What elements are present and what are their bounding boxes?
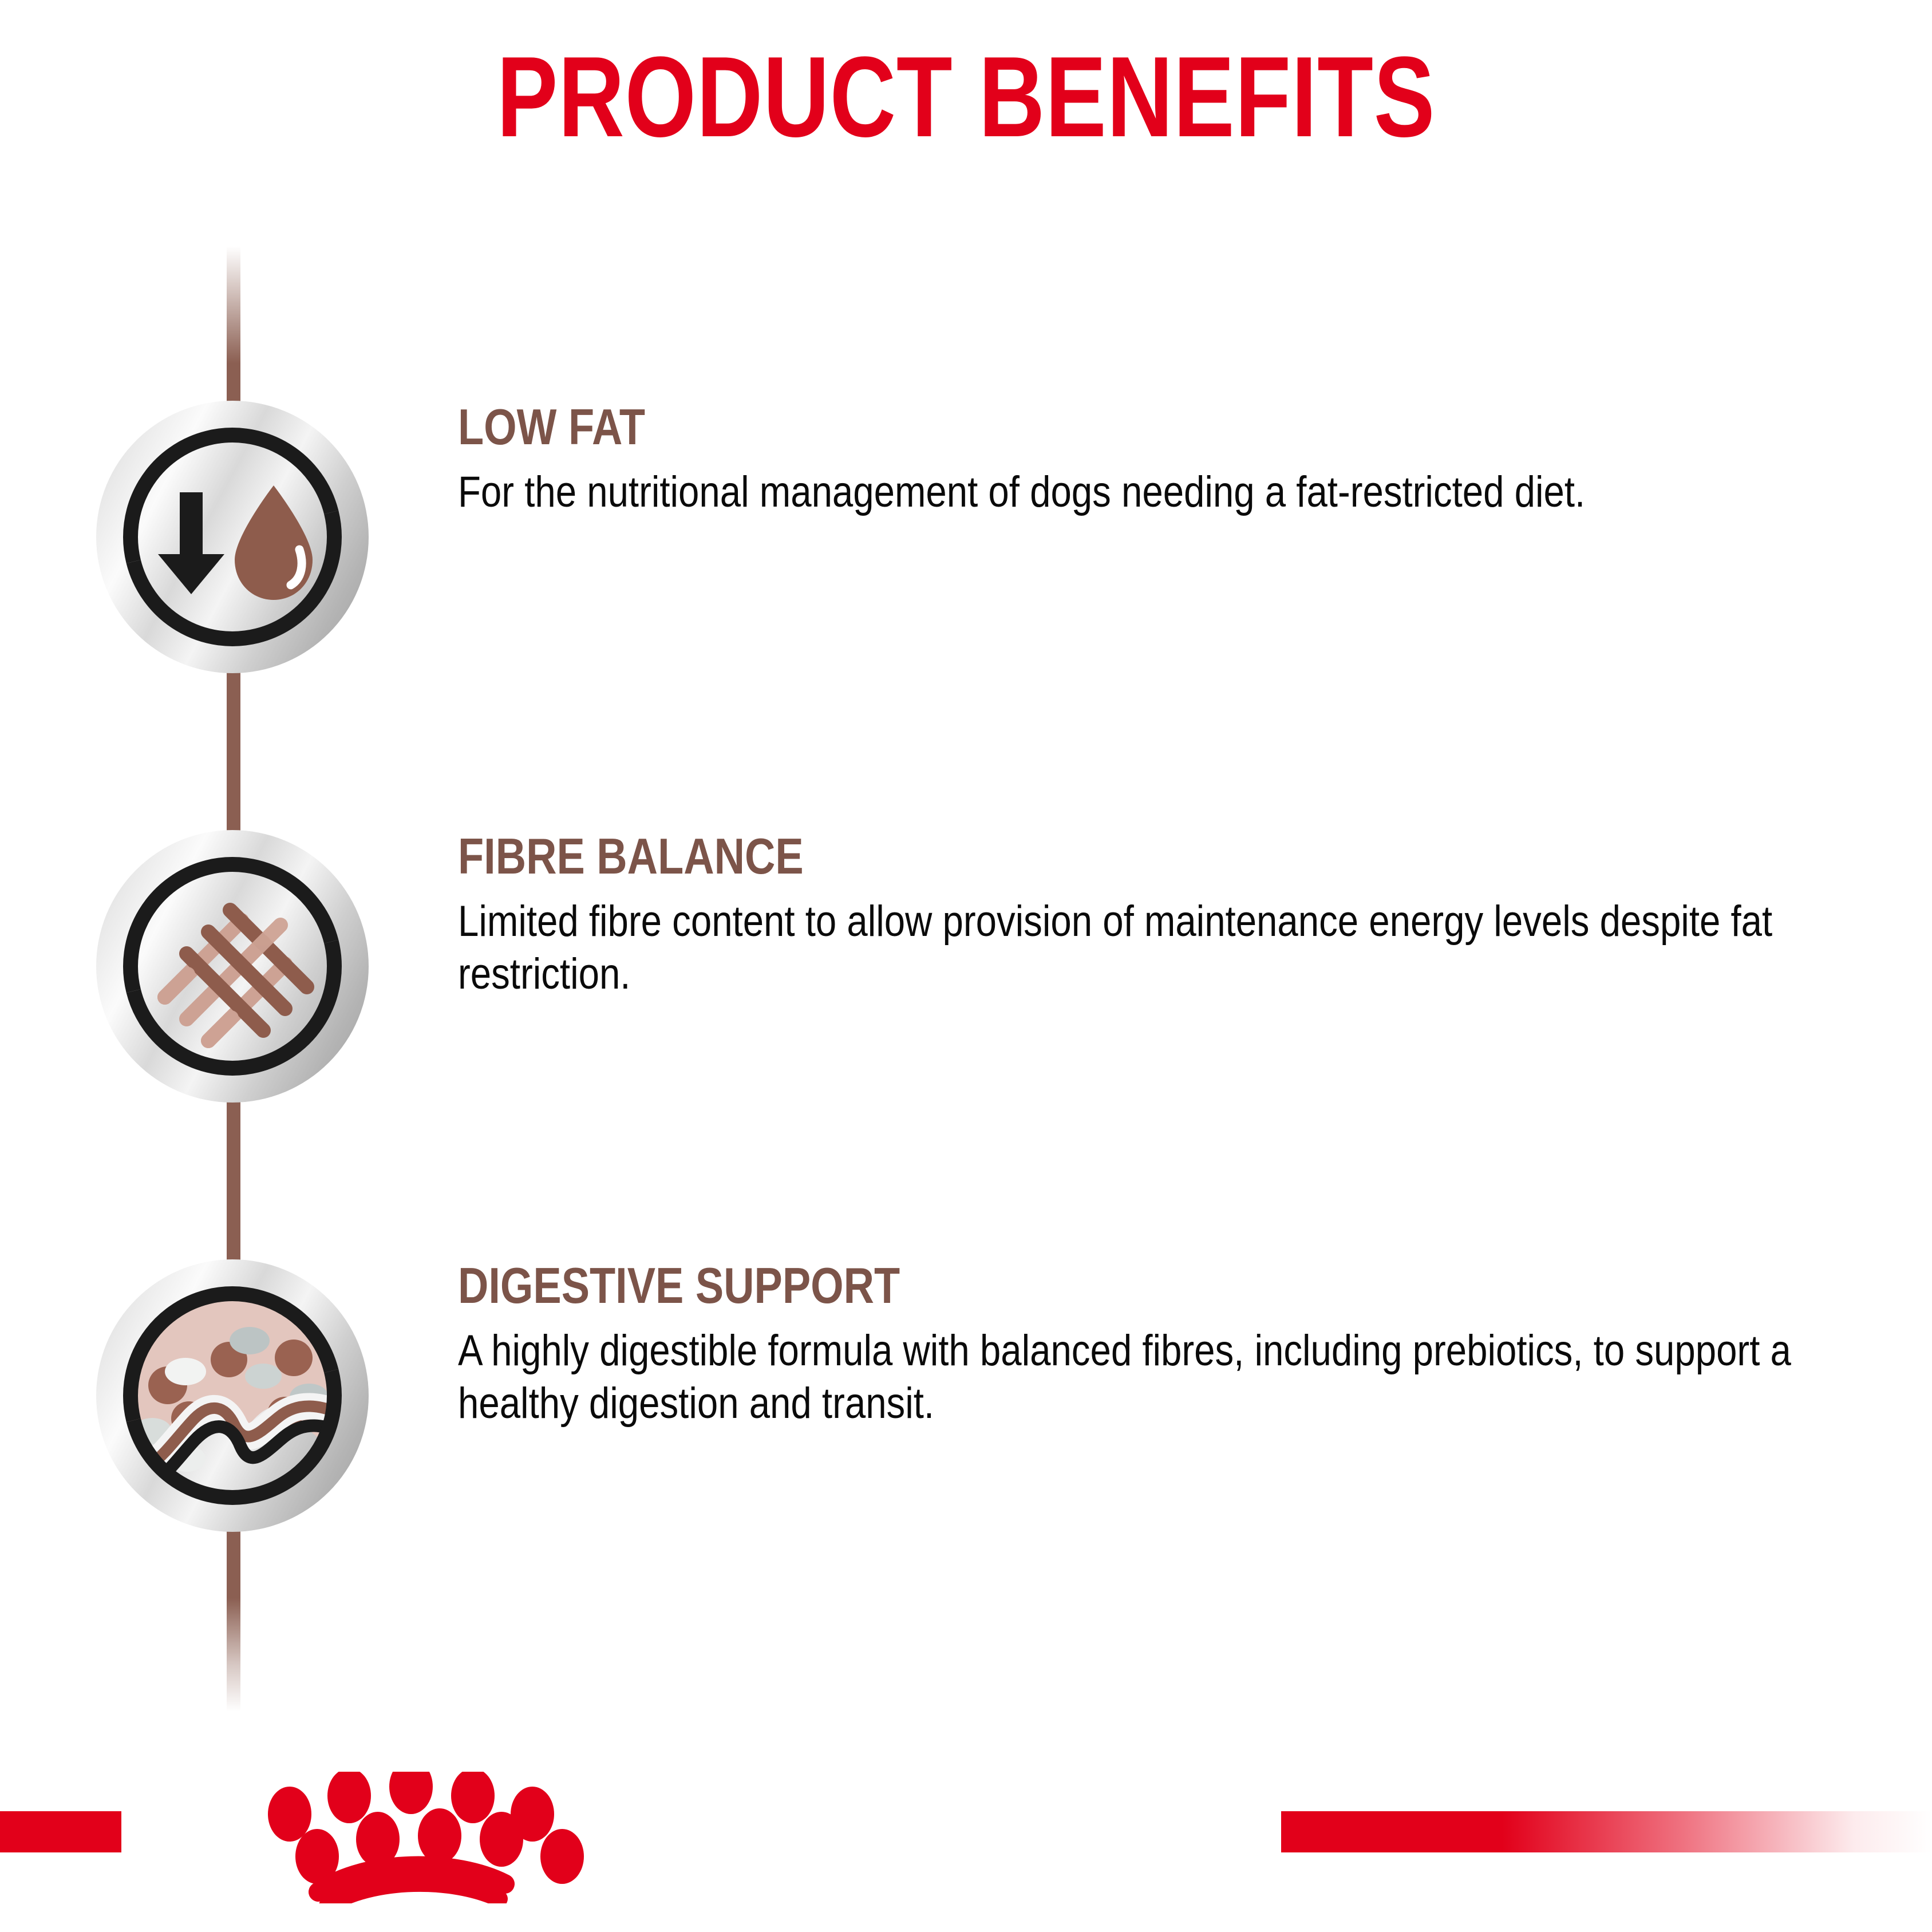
benefit-item-digestive-support: DIGESTIVE SUPPORT A highly digestible fo… (0, 1259, 1932, 1534)
benefit-item-fibre-balance: FIBRE BALANCE Limited fibre content to a… (0, 830, 1932, 1105)
timeline-connector-segment (227, 1093, 240, 1288)
benefit-item-low-fat: LOW FAT For the nutritional management o… (0, 401, 1932, 675)
low-fat-icon-glyph (96, 401, 369, 673)
timeline-connector-segment (227, 664, 240, 859)
benefit-text-block: DIGESTIVE SUPPORT A highly digestible fo… (458, 1259, 1843, 1430)
benefit-heading: LOW FAT (458, 401, 1622, 453)
fibre-balance-icon (96, 830, 369, 1103)
benefit-body: A highly digestible formula with balance… (458, 1325, 1827, 1430)
fibre-balance-icon-glyph (96, 830, 369, 1103)
royal-canin-crown-logo (120, 1772, 1282, 1903)
footer-bar-left (0, 1811, 121, 1852)
benefit-body: Limited fibre content to allow provision… (458, 895, 1827, 1001)
low-fat-icon (96, 401, 369, 673)
footer-bar-right (1281, 1811, 1932, 1852)
benefit-heading: DIGESTIVE SUPPORT (458, 1259, 1622, 1312)
benefit-text-block: FIBRE BALANCE Limited fibre content to a… (458, 830, 1843, 1001)
benefit-text-block: LOW FAT For the nutritional management o… (458, 401, 1843, 519)
page-title: PRODUCT BENEFITS (193, 40, 1739, 155)
digestive-support-icon-glyph (96, 1259, 369, 1532)
benefit-heading: FIBRE BALANCE (458, 830, 1622, 883)
digestive-support-icon (96, 1259, 369, 1532)
benefit-body: For the nutritional management of dogs n… (458, 466, 1827, 519)
timeline-connector-bottom (227, 1523, 240, 1712)
